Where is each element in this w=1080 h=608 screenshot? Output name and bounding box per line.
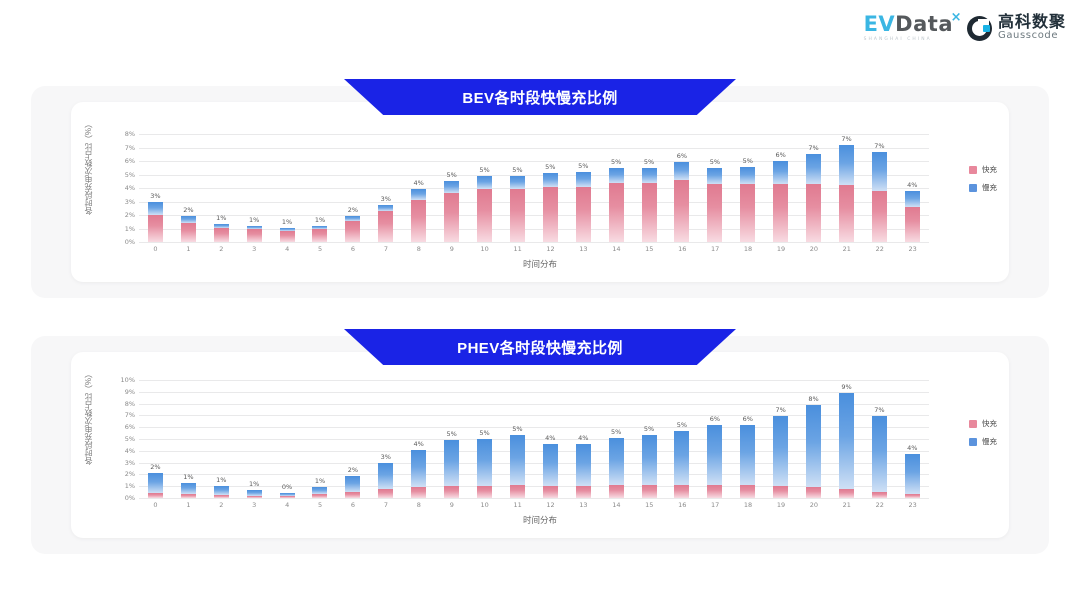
y-axis-tick: 0%	[125, 494, 135, 502]
stacked-bar[interactable]	[839, 393, 854, 498]
bar-segment-slow[interactable]	[312, 487, 327, 495]
bar-segment-fast[interactable]	[642, 485, 657, 498]
bar-column[interactable]: 1%	[304, 134, 337, 242]
bar-segment-slow[interactable]	[642, 435, 657, 485]
y-axis-tick: 5%	[125, 171, 135, 179]
banner-phev: PHEV各时段快慢充比例	[344, 329, 736, 365]
page-header: EVData × SHANGHAI CHINA 高科数聚 Gausscode	[0, 0, 1080, 62]
bar-segment-fast[interactable]	[181, 223, 196, 242]
bar-value-label: 5%	[479, 166, 489, 174]
bar-segment-slow[interactable]	[740, 167, 755, 184]
stacked-bar[interactable]	[905, 454, 920, 498]
stacked-bar[interactable]	[280, 228, 295, 242]
evdata-x-icon: ×	[951, 11, 962, 24]
stacked-bar[interactable]	[543, 173, 558, 242]
stacked-bar[interactable]	[148, 473, 163, 498]
banner-title-bev: BEV各时段快慢充比例	[462, 87, 617, 108]
bar-segment-fast[interactable]	[378, 211, 393, 242]
x-axis-tick: 6	[337, 245, 370, 253]
bar-value-label: 5%	[578, 162, 588, 170]
bar-segment-slow[interactable]	[609, 438, 624, 485]
x-axis-tick: 11	[501, 501, 534, 509]
bar-segment-fast[interactable]	[181, 494, 196, 498]
stacked-bar[interactable]	[411, 189, 426, 242]
bar-value-label: 5%	[446, 171, 456, 179]
evdata-wordmark: EVData ×	[864, 14, 953, 35]
bar-segment-fast[interactable]	[806, 487, 821, 498]
bar-value-label: 7%	[808, 144, 818, 152]
bar-column[interactable]: 1%	[172, 380, 205, 498]
legend-item[interactable]: 慢充	[969, 436, 997, 447]
bar-column[interactable]: 5%	[534, 134, 567, 242]
stacked-bar[interactable]	[214, 486, 229, 498]
bar-column[interactable]: 5%	[600, 380, 633, 498]
bar-segment-slow[interactable]	[674, 162, 689, 180]
bar-segment-slow[interactable]	[477, 439, 492, 486]
bar-value-label: 1%	[315, 477, 325, 485]
stacked-bar[interactable]	[312, 487, 327, 498]
x-axis-tick: 9	[435, 501, 468, 509]
bar-column[interactable]: 4%	[402, 134, 435, 242]
bar-segment-fast[interactable]	[773, 184, 788, 242]
stacked-bar[interactable]	[576, 444, 591, 498]
panel-bev: 各时段充电次数占比（%）0%1%2%3%4%5%6%7%8%3%2%1%1%1%…	[31, 86, 1049, 298]
evdata-logo: EVData × SHANGHAI CHINA	[864, 14, 953, 42]
stacked-bar[interactable]	[247, 490, 262, 498]
bar-segment-fast[interactable]	[773, 486, 788, 498]
x-axis-tick: 20	[797, 501, 830, 509]
panel-phev: 各时段充电次数占比（%）0%1%2%3%4%5%6%7%8%9%10%2%1%1…	[31, 336, 1049, 554]
x-axis-tick: 13	[567, 501, 600, 509]
bar-value-label: 5%	[512, 166, 522, 174]
stacked-bar[interactable]	[872, 152, 887, 242]
bar-segment-fast[interactable]	[477, 189, 492, 242]
bar-column[interactable]: 5%	[501, 134, 534, 242]
x-axis-tick: 6	[337, 501, 370, 509]
bar-column[interactable]: 5%	[633, 380, 666, 498]
bar-column[interactable]: 0%	[271, 380, 304, 498]
bar-value-label: 5%	[644, 425, 654, 433]
bar-column[interactable]: 4%	[402, 380, 435, 498]
bar-segment-fast[interactable]	[411, 487, 426, 498]
x-axis-tick: 13	[567, 245, 600, 253]
stacked-bar[interactable]	[378, 463, 393, 498]
y-axis-tick: 6%	[125, 157, 135, 165]
bar-value-label: 7%	[841, 135, 851, 143]
legend-label: 慢充	[982, 182, 997, 193]
stacked-bar[interactable]	[740, 167, 755, 242]
stacked-bar[interactable]	[674, 431, 689, 498]
stacked-bar[interactable]	[609, 168, 624, 242]
x-axis-tick: 7	[369, 245, 402, 253]
bar-column[interactable]: 5%	[468, 134, 501, 242]
bar-segment-slow[interactable]	[543, 444, 558, 485]
bar-value-label: 5%	[743, 157, 753, 165]
bar-column[interactable]: 7%	[797, 134, 830, 242]
bar-value-label: 5%	[677, 421, 687, 429]
stacked-bar[interactable]	[642, 435, 657, 498]
bar-segment-slow[interactable]	[181, 216, 196, 223]
x-axis-tick: 12	[534, 501, 567, 509]
bar-segment-slow[interactable]	[181, 483, 196, 494]
evdata-wordmark-ev: EV	[864, 12, 896, 36]
legend-swatch	[969, 184, 977, 192]
legend-label: 快充	[982, 164, 997, 175]
bar-value-label: 5%	[710, 158, 720, 166]
gausscode-dot-icon	[983, 25, 990, 32]
bar-segment-slow[interactable]	[510, 435, 525, 485]
bar-column[interactable]: 6%	[698, 380, 731, 498]
bar-segment-fast[interactable]	[214, 228, 229, 242]
bar-column[interactable]: 5%	[435, 380, 468, 498]
bar-segment-slow[interactable]	[444, 181, 459, 193]
legend-item[interactable]: 慢充	[969, 182, 997, 193]
bar-segment-slow[interactable]	[444, 440, 459, 485]
stacked-bar[interactable]	[806, 405, 821, 498]
bar-column[interactable]: 4%	[567, 380, 600, 498]
bar-column[interactable]: 2%	[172, 134, 205, 242]
bar-segment-fast[interactable]	[872, 492, 887, 498]
bar-segment-slow[interactable]	[773, 161, 788, 184]
bar-segment-fast[interactable]	[806, 184, 821, 242]
bar-segment-fast[interactable]	[609, 183, 624, 242]
bar-segment-fast[interactable]	[312, 494, 327, 498]
bar-segment-slow[interactable]	[148, 202, 163, 215]
y-axis-tick: 1%	[125, 225, 135, 233]
stacked-bar[interactable]	[444, 181, 459, 242]
bar-segment-fast[interactable]	[510, 189, 525, 242]
x-axis: 01234567891011121314151617181920212223	[139, 501, 929, 509]
bar-column[interactable]: 5%	[600, 134, 633, 242]
bar-column[interactable]: 7%	[863, 134, 896, 242]
bar-segment-fast[interactable]	[345, 492, 360, 498]
x-axis-tick: 11	[501, 245, 534, 253]
bar-column[interactable]: 5%	[731, 134, 764, 242]
bar-column[interactable]: 6%	[666, 134, 699, 242]
bar-column[interactable]: 1%	[205, 134, 238, 242]
bar-value-label: 1%	[216, 476, 226, 484]
bar-segment-slow[interactable]	[740, 425, 755, 485]
bar-column[interactable]: 5%	[666, 380, 699, 498]
bar-segment-fast[interactable]	[674, 485, 689, 498]
stacked-bar[interactable]	[806, 154, 821, 242]
bar-segment-slow[interactable]	[214, 486, 229, 495]
bar-segment-fast[interactable]	[543, 486, 558, 498]
bar-segment-slow[interactable]	[806, 405, 821, 488]
bar-segment-slow[interactable]	[905, 191, 920, 207]
bar-column[interactable]: 5%	[698, 134, 731, 242]
bar-segment-slow[interactable]	[806, 154, 821, 184]
legend-item[interactable]: 快充	[969, 418, 997, 429]
bar-value-label: 5%	[545, 163, 555, 171]
bar-segment-slow[interactable]	[411, 450, 426, 487]
bar-segment-slow[interactable]	[477, 176, 492, 190]
bar-segment-fast[interactable]	[148, 493, 163, 498]
x-axis-tick: 21	[830, 245, 863, 253]
legend-swatch	[969, 420, 977, 428]
x-axis-tick: 14	[600, 245, 633, 253]
stacked-bar[interactable]	[510, 176, 525, 242]
stacked-bar[interactable]	[543, 444, 558, 498]
y-axis-tick: 8%	[125, 400, 135, 408]
bar-segment-slow[interactable]	[773, 416, 788, 486]
chart-card-bev: 各时段充电次数占比（%）0%1%2%3%4%5%6%7%8%3%2%1%1%1%…	[71, 102, 1009, 282]
x-axis-tick: 18	[732, 245, 765, 253]
bar-segment-fast[interactable]	[148, 215, 163, 242]
bar-column[interactable]: 9%	[830, 380, 863, 498]
bar-column[interactable]: 7%	[830, 134, 863, 242]
bar-column[interactable]: 4%	[896, 134, 929, 242]
gridline	[139, 242, 929, 243]
stacked-bar[interactable]	[181, 483, 196, 498]
bar-segment-fast[interactable]	[411, 200, 426, 242]
y-axis-label: 各时段充电次数占比（%）	[83, 120, 94, 215]
bar-segment-fast[interactable]	[543, 187, 558, 242]
bar-segment-fast[interactable]	[280, 496, 295, 498]
gausscode-wordmark: 高科数聚 Gausscode	[998, 15, 1066, 42]
x-axis-tick: 23	[896, 501, 929, 509]
bar-value-label: 4%	[578, 434, 588, 442]
y-axis-tick: 5%	[125, 435, 135, 443]
y-axis-tick: 7%	[125, 411, 135, 419]
stacked-bar[interactable]	[609, 438, 624, 498]
bar-segment-fast[interactable]	[510, 485, 525, 498]
bar-value-label: 1%	[282, 218, 292, 226]
logo-group: EVData × SHANGHAI CHINA 高科数聚 Gausscode	[864, 14, 1066, 42]
chart-legend: 快充慢充	[969, 164, 997, 193]
stacked-bar[interactable]	[477, 176, 492, 242]
bar-segment-fast[interactable]	[872, 191, 887, 242]
bar-segment-slow[interactable]	[707, 168, 722, 184]
stacked-bar[interactable]	[576, 172, 591, 242]
x-axis-tick: 2	[205, 245, 238, 253]
bar-column[interactable]: 3%	[139, 134, 172, 242]
bar-segment-fast[interactable]	[642, 183, 657, 242]
bar-value-label: 2%	[348, 466, 358, 474]
bar-segment-fast[interactable]	[707, 485, 722, 498]
bar-column[interactable]: 5%	[435, 134, 468, 242]
bar-value-label: 0%	[282, 483, 292, 491]
bar-segment-slow[interactable]	[345, 476, 360, 492]
bar-segment-fast[interactable]	[280, 231, 295, 242]
y-axis-tick: 6%	[125, 423, 135, 431]
x-axis-tick: 17	[699, 245, 732, 253]
stacked-bar[interactable]	[707, 168, 722, 242]
y-axis-tick: 10%	[121, 376, 135, 384]
bar-value-label: 4%	[545, 434, 555, 442]
bar-value-label: 5%	[512, 425, 522, 433]
bar-value-label: 2%	[183, 206, 193, 214]
stacked-bar[interactable]	[773, 161, 788, 242]
stacked-bar[interactable]	[312, 226, 327, 242]
bar-value-label: 5%	[611, 158, 621, 166]
bar-value-label: 1%	[183, 473, 193, 481]
stacked-bar[interactable]	[707, 425, 722, 498]
x-axis-tick: 20	[797, 245, 830, 253]
bar-column[interactable]: 5%	[501, 380, 534, 498]
bar-column[interactable]: 1%	[271, 134, 304, 242]
bar-column[interactable]: 1%	[238, 380, 271, 498]
bar-column[interactable]: 7%	[863, 380, 896, 498]
legend-item[interactable]: 快充	[969, 164, 997, 175]
stacked-bar[interactable]	[740, 425, 755, 498]
bar-segment-fast[interactable]	[839, 185, 854, 242]
legend-label: 慢充	[982, 436, 997, 447]
bar-segment-fast[interactable]	[345, 221, 360, 242]
bar-segment-slow[interactable]	[576, 444, 591, 486]
bar-column[interactable]: 7%	[764, 380, 797, 498]
x-axis-tick: 2	[205, 501, 238, 509]
bar-value-label: 1%	[315, 216, 325, 224]
bar-segment-fast[interactable]	[214, 495, 229, 498]
bar-value-label: 8%	[808, 395, 818, 403]
bar-value-label: 6%	[677, 152, 687, 160]
x-axis-tick: 16	[666, 245, 699, 253]
bar-segment-fast[interactable]	[905, 207, 920, 242]
bar-segment-fast[interactable]	[576, 486, 591, 498]
x-axis-tick: 10	[468, 501, 501, 509]
bar-group: 2%1%1%1%0%1%2%3%4%5%5%5%4%4%5%5%5%6%6%7%…	[139, 380, 929, 498]
bar-value-label: 9%	[841, 383, 851, 391]
bar-column[interactable]: 4%	[896, 380, 929, 498]
bar-group: 3%2%1%1%1%1%2%3%4%5%5%5%5%5%5%5%6%5%5%6%…	[139, 134, 929, 242]
stacked-bar[interactable]	[378, 205, 393, 242]
x-axis-tick: 4	[271, 501, 304, 509]
bar-segment-slow[interactable]	[839, 393, 854, 489]
bar-segment-slow[interactable]	[872, 152, 887, 191]
bar-value-label: 5%	[611, 428, 621, 436]
bar-segment-slow[interactable]	[707, 425, 722, 485]
bar-column[interactable]: 1%	[205, 380, 238, 498]
chart-bev: 各时段充电次数占比（%）0%1%2%3%4%5%6%7%8%3%2%1%1%1%…	[71, 102, 1009, 282]
legend-swatch	[969, 438, 977, 446]
bar-segment-fast[interactable]	[839, 489, 854, 498]
stacked-bar[interactable]	[247, 226, 262, 242]
bar-column[interactable]: 5%	[633, 134, 666, 242]
bar-segment-slow[interactable]	[839, 145, 854, 186]
bar-segment-fast[interactable]	[444, 193, 459, 242]
bar-segment-fast[interactable]	[576, 187, 591, 242]
bar-column[interactable]: 1%	[238, 134, 271, 242]
bar-column[interactable]: 4%	[534, 380, 567, 498]
bar-segment-slow[interactable]	[411, 189, 426, 200]
x-axis-tick: 14	[600, 501, 633, 509]
bar-value-label: 4%	[907, 444, 917, 452]
stacked-bar[interactable]	[905, 191, 920, 242]
bar-segment-fast[interactable]	[674, 180, 689, 242]
stacked-bar[interactable]	[345, 216, 360, 242]
stacked-bar[interactable]	[642, 168, 657, 242]
bar-segment-fast[interactable]	[905, 494, 920, 498]
bar-segment-slow[interactable]	[872, 416, 887, 492]
stacked-bar[interactable]	[839, 145, 854, 242]
bar-segment-slow[interactable]	[576, 172, 591, 186]
bar-column[interactable]: 5%	[567, 134, 600, 242]
bar-column[interactable]: 8%	[797, 380, 830, 498]
x-axis-tick: 16	[666, 501, 699, 509]
plot-area: 0%1%2%3%4%5%6%7%8%9%10%2%1%1%1%0%1%2%3%4…	[139, 380, 929, 498]
stacked-bar[interactable]	[280, 493, 295, 498]
bar-segment-slow[interactable]	[642, 168, 657, 183]
bar-segment-fast[interactable]	[740, 184, 755, 242]
x-axis-tick: 4	[271, 245, 304, 253]
y-axis-tick: 1%	[125, 482, 135, 490]
bar-segment-slow[interactable]	[674, 431, 689, 485]
bar-segment-slow[interactable]	[378, 463, 393, 489]
bar-segment-slow[interactable]	[148, 473, 163, 494]
bar-column[interactable]: 3%	[369, 134, 402, 242]
bar-segment-slow[interactable]	[609, 168, 624, 182]
x-axis-tick: 22	[863, 501, 896, 509]
bar-segment-fast[interactable]	[740, 485, 755, 498]
legend-label: 快充	[982, 418, 997, 429]
bar-value-label: 1%	[216, 214, 226, 222]
bar-column[interactable]: 2%	[139, 380, 172, 498]
stacked-bar[interactable]	[411, 450, 426, 498]
bar-segment-fast[interactable]	[477, 486, 492, 498]
bar-segment-fast[interactable]	[247, 496, 262, 498]
x-axis-tick: 0	[139, 245, 172, 253]
bar-value-label: 3%	[150, 192, 160, 200]
bar-value-label: 1%	[249, 216, 259, 224]
bar-segment-fast[interactable]	[707, 184, 722, 242]
bar-value-label: 3%	[381, 453, 391, 461]
stacked-bar[interactable]	[674, 162, 689, 242]
bar-value-label: 1%	[249, 480, 259, 488]
x-axis-tick: 3	[238, 245, 271, 253]
x-axis-tick: 1	[172, 501, 205, 509]
bar-segment-slow[interactable]	[510, 176, 525, 190]
x-axis-tick: 15	[633, 245, 666, 253]
bar-segment-fast[interactable]	[609, 485, 624, 498]
chart-card-phev: 各时段充电次数占比（%）0%1%2%3%4%5%6%7%8%9%10%2%1%1…	[71, 352, 1009, 538]
x-axis-tick: 15	[633, 501, 666, 509]
bar-segment-fast[interactable]	[444, 486, 459, 498]
x-axis-tick: 0	[139, 501, 172, 509]
stacked-bar[interactable]	[181, 216, 196, 242]
bar-column[interactable]: 6%	[731, 380, 764, 498]
bar-segment-slow[interactable]	[543, 173, 558, 187]
stacked-bar[interactable]	[214, 224, 229, 242]
bar-column[interactable]: 3%	[369, 380, 402, 498]
x-axis-tick: 8	[402, 245, 435, 253]
bar-segment-fast[interactable]	[247, 229, 262, 242]
stacked-bar[interactable]	[477, 439, 492, 498]
stacked-bar[interactable]	[773, 416, 788, 498]
bar-column[interactable]: 5%	[468, 380, 501, 498]
bar-value-label: 3%	[381, 195, 391, 203]
bar-column[interactable]: 1%	[304, 380, 337, 498]
stacked-bar[interactable]	[510, 435, 525, 498]
bar-segment-fast[interactable]	[378, 489, 393, 498]
bar-segment-slow[interactable]	[905, 454, 920, 494]
bar-column[interactable]: 6%	[764, 134, 797, 242]
bar-segment-fast[interactable]	[312, 229, 327, 242]
x-axis-tick: 19	[765, 501, 798, 509]
bar-value-label: 4%	[907, 181, 917, 189]
stacked-bar[interactable]	[148, 202, 163, 242]
stacked-bar[interactable]	[444, 440, 459, 498]
stacked-bar[interactable]	[872, 416, 887, 498]
y-axis-tick: 3%	[125, 198, 135, 206]
stacked-bar[interactable]	[345, 476, 360, 498]
bar-value-label: 7%	[874, 406, 884, 414]
y-axis-tick: 8%	[125, 130, 135, 138]
bar-column[interactable]: 2%	[336, 380, 369, 498]
bar-column[interactable]: 2%	[336, 134, 369, 242]
bar-value-label: 7%	[776, 406, 786, 414]
x-axis-tick: 5	[304, 245, 337, 253]
